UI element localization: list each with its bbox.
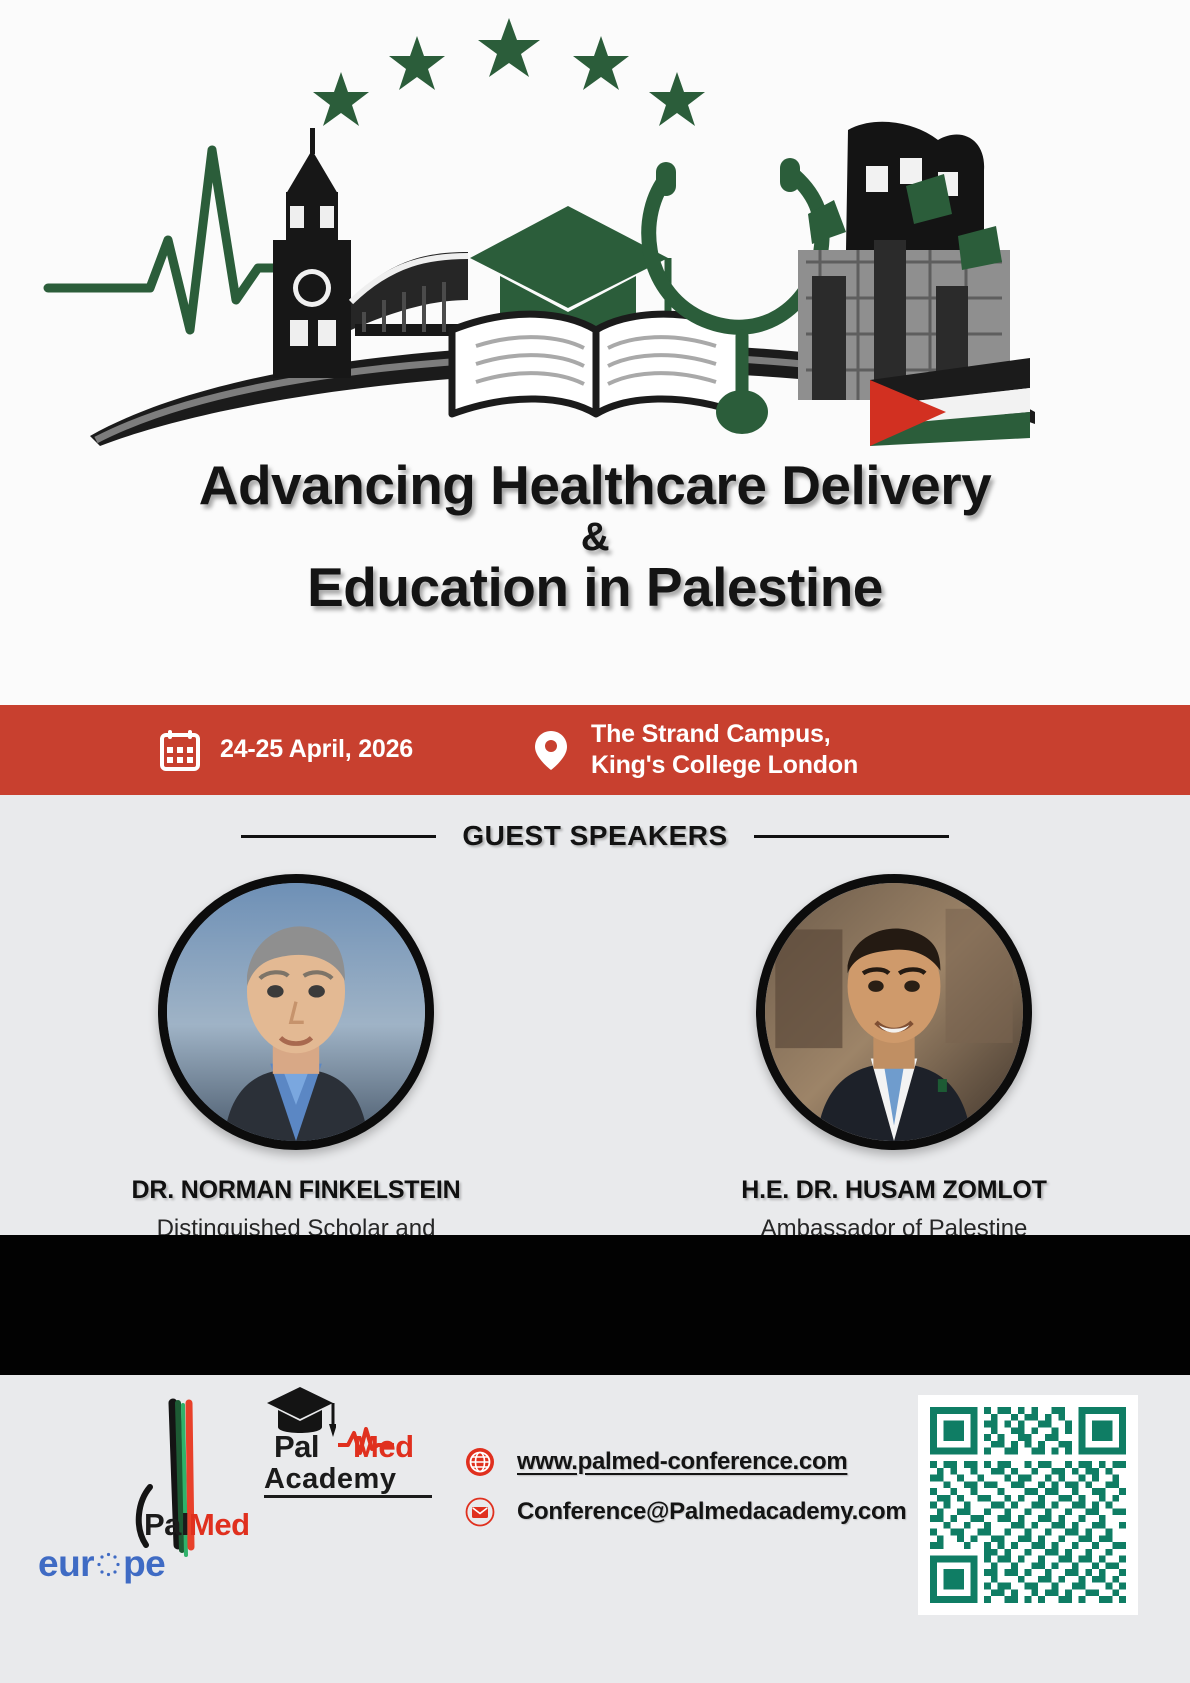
poster-title: Advancing Healthcare Delivery & Educatio… [0, 455, 1190, 618]
conference-poster: Advancing Healthcare Delivery & Educatio… [0, 0, 1190, 1683]
map-pin-icon [531, 728, 571, 772]
stars-arc-icon [313, 18, 705, 126]
guest-speakers-title: GUEST SPEAKERS [462, 820, 727, 852]
email-icon [465, 1497, 495, 1527]
hero-section: Advancing Healthcare Delivery & Educatio… [0, 0, 1190, 705]
website-url[interactable]: www.palmed-conference.com [517, 1448, 847, 1476]
palmed-academy-logo: Pal Med Academy [258, 1383, 448, 1493]
event-venue-group: The Strand Campus, King's College London [531, 719, 858, 782]
academy-med: Med [353, 1429, 414, 1465]
speaker-card: H.E. DR. HUSAM ZOMLOT Ambassador of Pale… [684, 874, 1104, 1278]
portrait-norman-finkelstein [167, 883, 425, 1141]
tower-bridge-icon [273, 128, 468, 378]
academy-underline [264, 1495, 432, 1498]
academy-word: Academy [264, 1463, 396, 1496]
speaker-name: H.E. DR. HUSAM ZOMLOT [684, 1176, 1104, 1205]
footer-section: PalMed eur pe [0, 1375, 1190, 1683]
event-date-group: 24-25 April, 2026 [160, 728, 413, 772]
palmed-europe-wordmark: PalMed [144, 1507, 250, 1543]
contact-list: www.palmed-conference.com Conference@Pal… [465, 1447, 906, 1547]
header-rule-left [241, 835, 436, 838]
palmed-europe-logo: PalMed eur pe [26, 1395, 276, 1615]
header-rule-right [754, 835, 949, 838]
academy-pal: Pal [274, 1429, 319, 1465]
gaza-ruins-icon [798, 122, 1010, 400]
speaker-name: DR. NORMAN FINKELSTEIN [86, 1176, 506, 1205]
palmed-europe-med: Med [189, 1507, 250, 1542]
event-date: 24-25 April, 2026 [220, 734, 413, 766]
event-venue: The Strand Campus, King's College London [591, 719, 858, 782]
guest-speakers-header: GUEST SPEAKERS [0, 795, 1190, 852]
title-line-1: Advancing Healthcare Delivery [0, 455, 1190, 517]
avatar [158, 874, 434, 1150]
europe-prefix: eur [38, 1543, 94, 1585]
europe-suffix: pe [123, 1543, 165, 1585]
guest-speakers-section: GUEST SPEAKERS [0, 795, 1190, 1235]
qr-code-icon [930, 1407, 1126, 1603]
avatar [756, 874, 1032, 1150]
speaker-list: DR. NORMAN FINKELSTEIN Distinguished Sch… [0, 874, 1190, 1278]
black-divider [0, 1235, 1190, 1375]
portrait-husam-zomlot [765, 883, 1023, 1141]
stethoscope-chestpiece [716, 390, 768, 434]
palmed-europe-pal: Pal [144, 1507, 189, 1542]
heartbeat-icon [48, 150, 300, 330]
qr-code[interactable] [918, 1395, 1138, 1615]
event-info-banner: 24-25 April, 2026 The Strand Campus, Kin… [0, 705, 1190, 795]
contact-email[interactable]: Conference@Palmedacademy.com [465, 1497, 906, 1527]
conference-emblem-artwork [0, 0, 1190, 460]
globe-icon [465, 1447, 495, 1477]
eu-stars-icon [95, 1551, 122, 1578]
title-ampersand: & [0, 517, 1190, 557]
title-line-2: Education in Palestine [0, 557, 1190, 619]
europe-wordmark: eur pe [38, 1543, 165, 1585]
email-address[interactable]: Conference@Palmedacademy.com [517, 1498, 906, 1526]
contact-website[interactable]: www.palmed-conference.com [465, 1447, 906, 1477]
open-book-icon [452, 314, 742, 414]
speaker-card: DR. NORMAN FINKELSTEIN Distinguished Sch… [86, 874, 506, 1278]
calendar-icon [160, 728, 200, 772]
